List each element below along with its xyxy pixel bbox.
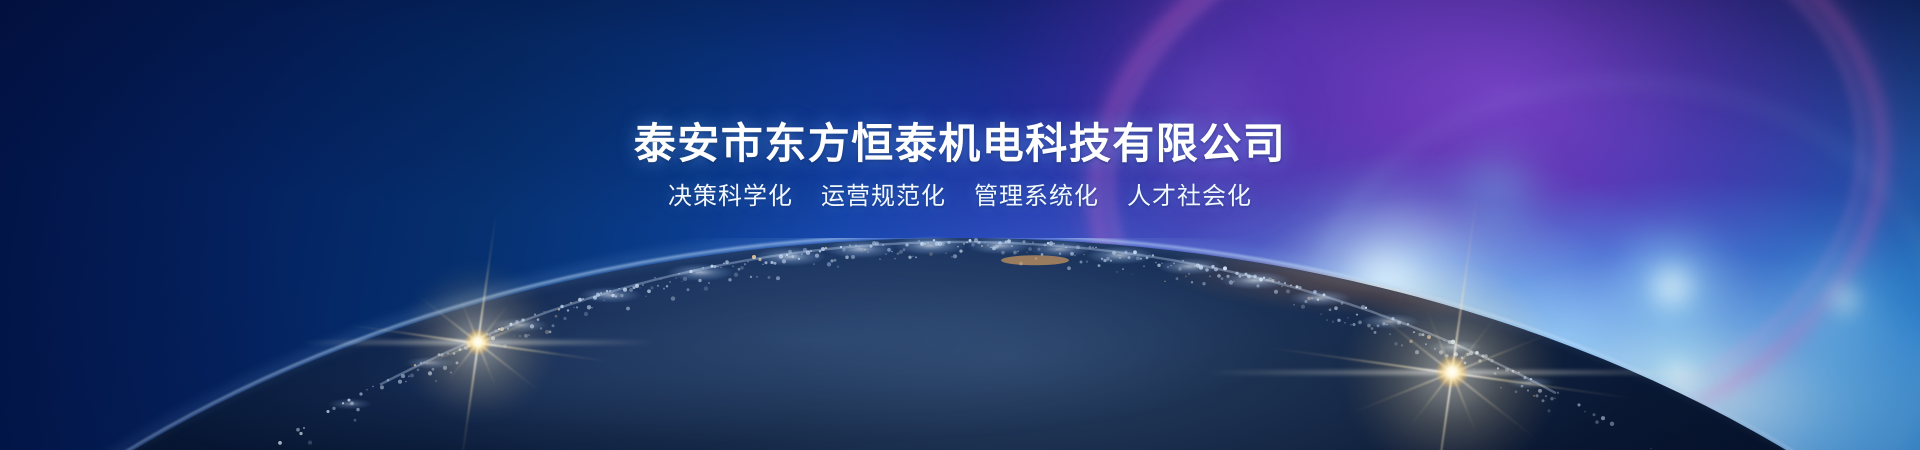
- company-title: 泰安市东方恒泰机电科技有限公司: [0, 122, 1920, 166]
- slogan-item-3: 管理系统化: [974, 184, 1099, 210]
- hero-banner: 泰安市东方恒泰机电科技有限公司 决策科学化运营规范化管理系统化人才社会化: [0, 0, 1920, 450]
- banner-text-block: 泰安市东方恒泰机电科技有限公司 决策科学化运营规范化管理系统化人才社会化: [0, 122, 1920, 210]
- slogan-item-2: 运营规范化: [821, 184, 946, 210]
- earth-atmosphere-rim: [0, 238, 1920, 450]
- slogan-item-1: 决策科学化: [668, 184, 793, 210]
- earth-globe: [0, 238, 1920, 450]
- company-slogan: 决策科学化运营规范化管理系统化人才社会化: [0, 184, 1920, 210]
- slogan-item-4: 人才社会化: [1127, 184, 1252, 210]
